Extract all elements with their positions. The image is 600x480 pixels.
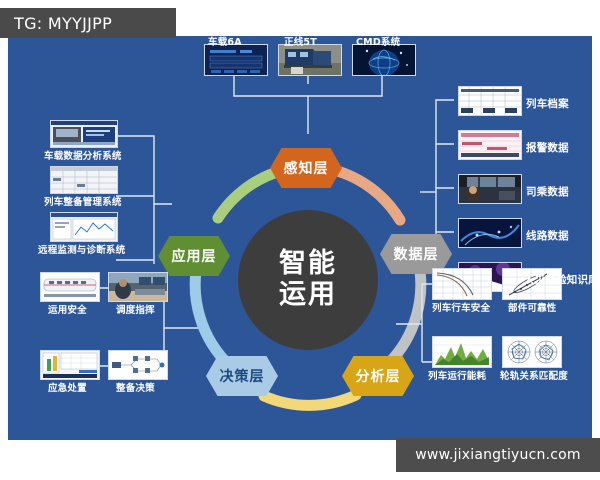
train-diagram-thumb[interactable] — [40, 272, 100, 302]
label-component-reliability: 部件可靠性 — [508, 300, 557, 314]
globe-network-thumb[interactable] — [352, 44, 416, 76]
label-remote-monitoring-diagnosis-system: 远程监测与诊断系统 — [38, 242, 125, 256]
area-chart-thumb[interactable] — [432, 336, 492, 368]
label-onboard-data-analysis-system: 车载数据分析系统 — [44, 148, 122, 162]
control-room-photo-thumb[interactable] — [108, 272, 168, 302]
driver-cab-photo-thumb[interactable] — [458, 174, 522, 204]
monitoring-dashboard-thumb[interactable] — [50, 212, 118, 242]
train-schematic-thumb[interactable] — [204, 44, 268, 76]
site-watermark: www.jixiangtiyucn.com — [396, 438, 600, 472]
node-application-layer-label: 应用层 — [172, 246, 217, 266]
poster-canvas: TG: MYYJJPP — [0, 0, 600, 480]
radar-chart-thumb[interactable] — [502, 336, 562, 368]
tg-tag: TG: MYYJJPP — [0, 8, 176, 38]
label-expert-knowledge-base: 人工经验知识库 — [524, 272, 592, 287]
node-decision-layer[interactable]: 决策层 — [206, 356, 278, 396]
label-mainline-5t: 正线5T — [284, 36, 317, 48]
label-cmd-system: CMD系统 — [356, 36, 400, 48]
node-data-layer-label: 数据层 — [394, 244, 439, 264]
label-operation-safety: 运用安全 — [48, 302, 87, 316]
label-preparation-decision: 整备决策 — [116, 380, 155, 394]
label-wheel-rail-matching: 轮轨关系匹配度 — [500, 368, 568, 382]
label-dispatch-command: 调度指挥 — [116, 302, 155, 316]
curve-chart-thumb[interactable] — [432, 268, 492, 300]
node-analysis-layer[interactable]: 分析层 — [342, 356, 414, 396]
label-emergency-response: 应急处置 — [48, 380, 87, 394]
tg-tag-label: TG: MYYJJPP — [14, 14, 112, 33]
track-map-thumb[interactable] — [458, 218, 522, 248]
software-window-thumb[interactable] — [50, 120, 118, 148]
label-train-preparation-management-system: 列车整备管理系统 — [44, 194, 122, 208]
dashboard-panel-thumb[interactable] — [40, 350, 100, 380]
alarm-log-thumb[interactable] — [458, 130, 522, 160]
label-onboard-6a: 车载6A — [208, 36, 242, 48]
node-application-layer[interactable]: 应用层 — [158, 236, 230, 276]
site-watermark-label: www.jixiangtiyucn.com — [415, 447, 580, 463]
locomotive-photo-thumb[interactable] — [278, 44, 342, 76]
flowchart-thumb[interactable] — [108, 350, 168, 380]
label-train-energy-consumption: 列车运行能耗 — [428, 368, 486, 382]
label-train-operation-safety: 列车行车安全 — [432, 300, 490, 314]
document-table-thumb[interactable] — [458, 86, 522, 116]
infographic-body: 智能 运用 感知层 数据层 分析层 决策层 应用层 — [8, 36, 592, 440]
node-sense-layer-label: 感知层 — [284, 158, 329, 178]
spreadsheet-thumb[interactable] — [50, 166, 118, 194]
label-train-archive: 列车档案 — [526, 96, 569, 111]
node-decision-layer-label: 决策层 — [220, 366, 265, 386]
label-crew-data: 司乘数据 — [526, 184, 569, 199]
node-analysis-layer-label: 分析层 — [356, 366, 401, 386]
label-route-data: 线路数据 — [526, 228, 569, 243]
label-alarm-data: 报警数据 — [526, 140, 569, 155]
node-sense-layer[interactable]: 感知层 — [270, 148, 342, 188]
